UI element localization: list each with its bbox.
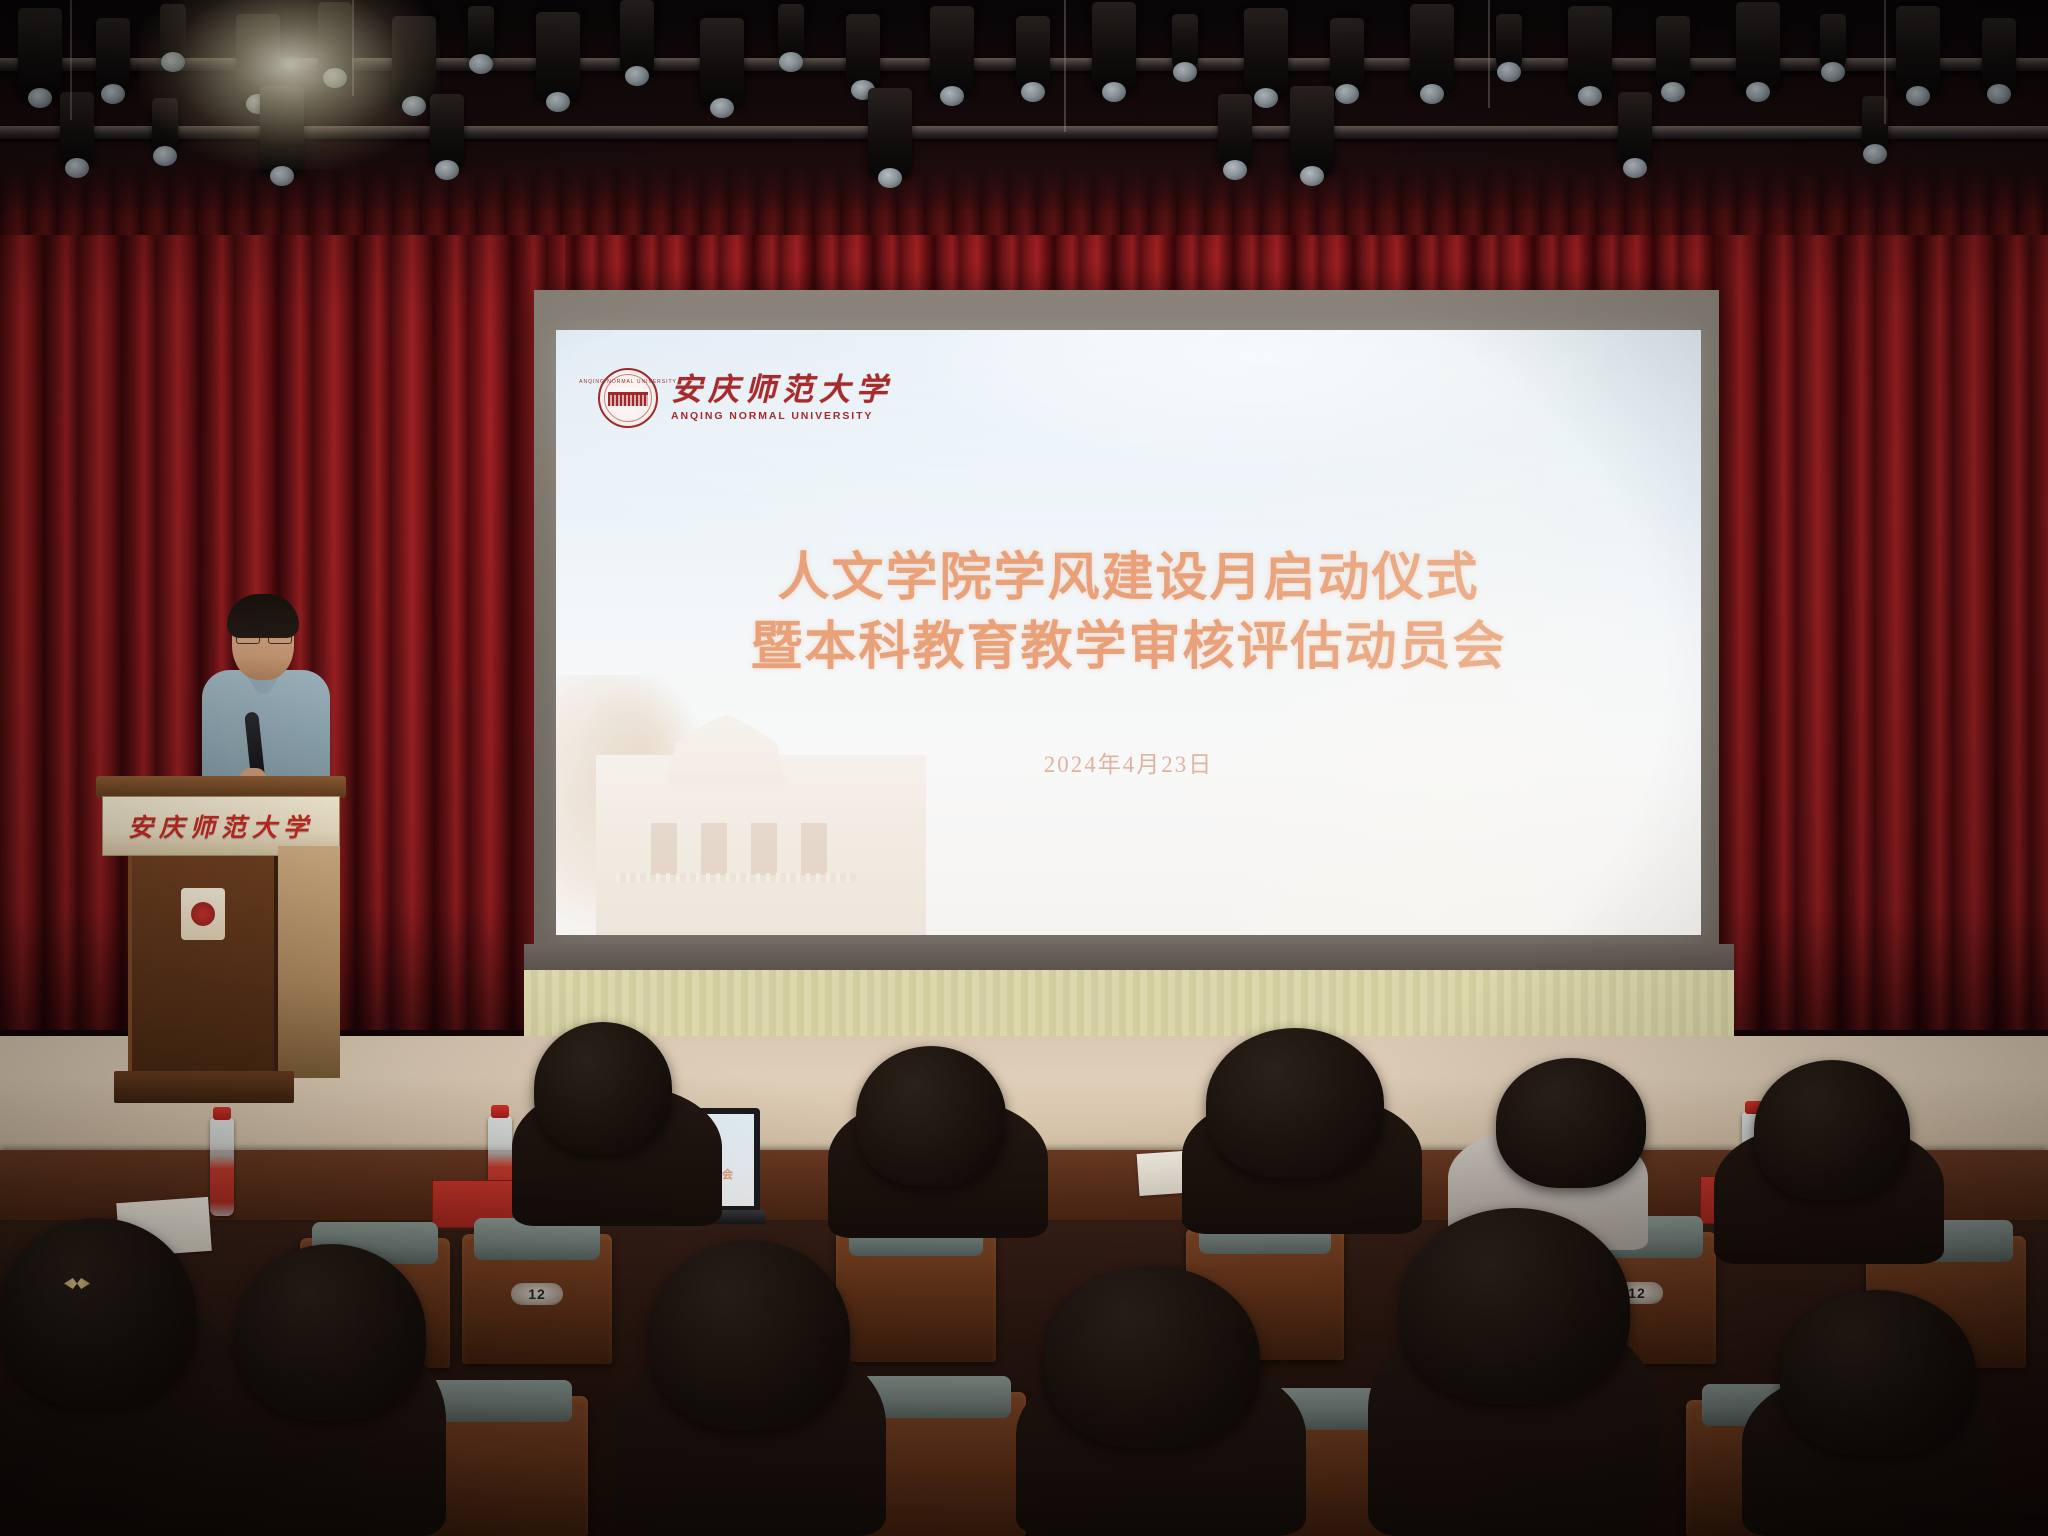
stage-light-icon	[1820, 14, 1846, 70]
university-logo: ANQING NORMAL UNIVERSITY 安庆师范大学 ANQING N…	[598, 368, 893, 428]
podium-column	[128, 856, 278, 1071]
stage-light-icon	[1290, 86, 1334, 174]
stage-light-icon	[1736, 2, 1780, 90]
university-seal-icon: ANQING NORMAL UNIVERSITY	[598, 368, 658, 428]
water-bottle	[210, 1118, 234, 1216]
screen-lower-band	[524, 944, 1734, 970]
audience-member-head	[236, 1244, 426, 1420]
building-window	[701, 823, 727, 875]
audience-member-head	[650, 1240, 850, 1430]
stage-light-icon	[160, 4, 186, 60]
slide-title: 人文学院学风建设月启动仪式 暨本科教育教学审核评估动员会	[556, 545, 1701, 682]
stage-light-icon	[1092, 2, 1136, 90]
podium: 安庆师范大学	[96, 776, 346, 1126]
audience-member-head	[1780, 1290, 1976, 1456]
audience-member-head	[1400, 1208, 1630, 1404]
logo-chinese-name: 安庆师范大学	[671, 374, 893, 407]
audience-member-head	[856, 1046, 1006, 1186]
stage-light-icon	[1172, 14, 1198, 70]
slide-title-line-2: 暨本科教育教学审核评估动员会	[556, 614, 1701, 683]
building-window	[801, 823, 827, 875]
stage-light-icon	[468, 6, 494, 62]
stage-light-icon	[392, 16, 436, 104]
building-balustrade	[616, 873, 856, 883]
seat	[836, 1230, 996, 1362]
stage-light-icon	[846, 14, 880, 88]
audience-member-head	[1496, 1058, 1646, 1188]
podium-sign-text: 安庆师范大学	[128, 808, 314, 844]
building-window	[751, 823, 777, 875]
stage-lighting-truss	[0, 0, 2048, 210]
slide-date: 2024年4月23日	[556, 745, 1701, 779]
stage-light-icon	[260, 86, 304, 174]
stage-back-wall-panel	[524, 970, 1734, 1040]
speaker	[196, 592, 356, 792]
seat: 12	[462, 1234, 612, 1364]
audience-member-head	[1044, 1266, 1260, 1448]
seat-number-badge: 12	[511, 1283, 563, 1305]
audience-member-head	[1754, 1060, 1910, 1200]
stage-light-icon	[1656, 16, 1690, 90]
seal-building-glyph	[608, 392, 648, 406]
stage-light-icon	[1016, 16, 1050, 90]
audience-member-head	[1206, 1028, 1384, 1178]
auditorium-scene: ANQING NORMAL UNIVERSITY 安庆师范大学 ANQING N…	[0, 0, 2048, 1536]
building-window	[651, 823, 677, 875]
stage-light-icon	[1618, 92, 1652, 166]
stage-light-icon	[868, 88, 912, 176]
lighting-cable	[1064, 0, 1066, 132]
lighting-cable	[1488, 0, 1490, 108]
podium-base	[114, 1071, 294, 1103]
stage-light-icon	[1244, 8, 1288, 96]
seal-arc-text: ANQING NORMAL UNIVERSITY	[579, 379, 677, 385]
stage-light-icon	[930, 6, 974, 94]
stage-light-icon	[1496, 14, 1522, 70]
stage-light-icon	[778, 4, 804, 60]
stage-light-icon	[1330, 18, 1364, 92]
podium-top	[96, 776, 346, 798]
podium-side-panel	[278, 846, 340, 1078]
podium-emblem-icon	[181, 888, 225, 940]
glasses-icon	[236, 630, 292, 643]
campus-building-artwork	[556, 660, 996, 935]
stage-light-icon	[318, 2, 352, 76]
audience-member-head	[0, 1218, 196, 1408]
slide-title-line-1: 人文学院学风建设月启动仪式	[556, 545, 1701, 614]
stage-light-icon	[1982, 18, 2016, 92]
audience-member-head	[534, 1022, 672, 1154]
truss-bar-lower	[0, 126, 2048, 139]
stage-light-icon	[152, 98, 178, 154]
logo-text-block: 安庆师范大学 ANQING NORMAL UNIVERSITY	[671, 374, 893, 422]
logo-english-name: ANQING NORMAL UNIVERSITY	[671, 410, 893, 422]
lighting-cable	[70, 0, 72, 120]
stage-light-icon	[18, 8, 62, 96]
lighting-cable	[1884, 0, 1886, 124]
stage-light-icon	[430, 94, 464, 168]
stage-light-icon	[536, 12, 580, 100]
lighting-cable	[352, 0, 354, 96]
stage-light-icon	[1896, 6, 1940, 94]
stage-light-icon	[1410, 4, 1454, 92]
stage-light-icon	[1218, 94, 1252, 168]
stage-light-icon	[1568, 6, 1612, 94]
stage-light-icon	[60, 92, 94, 166]
stage-light-icon	[96, 18, 130, 92]
stage-light-icon	[620, 0, 654, 74]
stage-light-icon	[700, 18, 744, 106]
projection-screen: ANQING NORMAL UNIVERSITY 安庆师范大学 ANQING N…	[556, 330, 1701, 935]
